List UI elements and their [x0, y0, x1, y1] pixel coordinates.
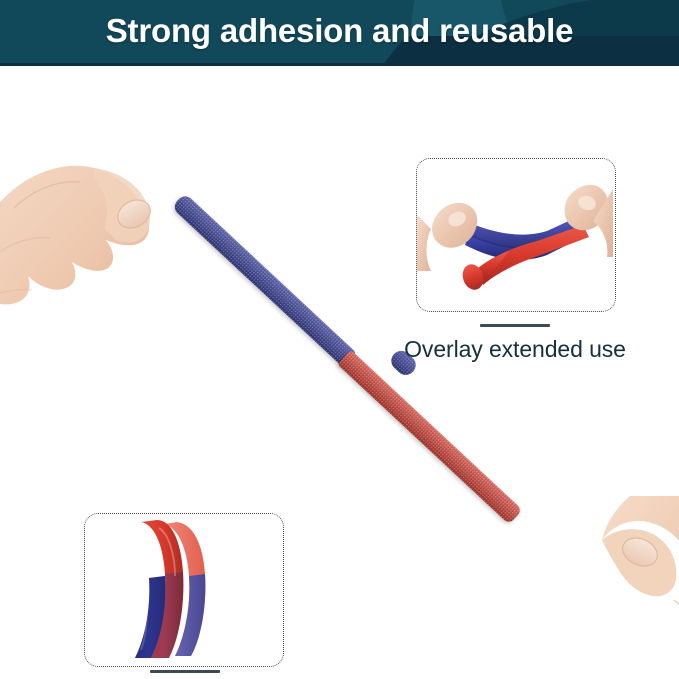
product-infographic: Strong adhesion and reusable [0, 0, 679, 679]
red-strap [337, 350, 523, 525]
blue-strap [171, 193, 357, 368]
header-banner: Strong adhesion and reusable [0, 0, 679, 66]
page-title: Strong adhesion and reusable [0, 0, 679, 62]
caption-overlay-extended-use: Overlay extended use [379, 324, 651, 363]
main-photo: Overlay extended use [0, 66, 679, 679]
caption-rule [150, 670, 220, 673]
caption-not-easy-to-fall-off: Not wasy to fall off [49, 670, 321, 679]
hand-bottom-right [578, 496, 679, 679]
inset-overlay-extended-use [416, 158, 616, 312]
hand-top-left [0, 116, 189, 366]
inset-not-easy-to-fall-off [84, 513, 284, 667]
caption-rule [480, 324, 550, 327]
caption-text: Overlay extended use [379, 336, 651, 363]
